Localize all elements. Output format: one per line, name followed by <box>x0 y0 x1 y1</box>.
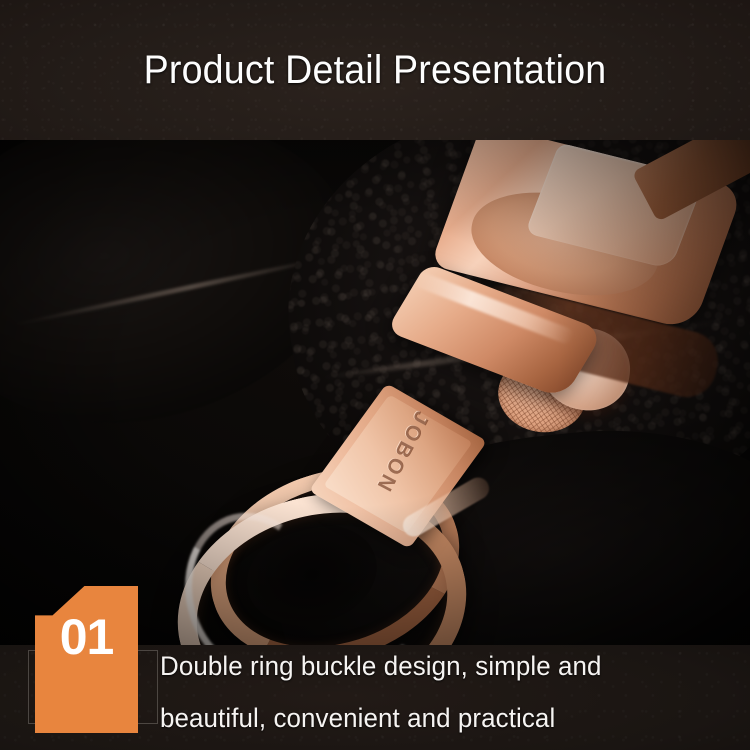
caption-text: Double ring buckle design, simple and be… <box>160 640 698 744</box>
caption-line-2: beautiful, convenient and practical <box>160 692 698 744</box>
product-detail-page: Product Detail Presentation <box>0 0 750 750</box>
caption-line-1: Double ring buckle design, simple and <box>160 640 698 692</box>
keychain-assembly: JOBON <box>0 140 750 645</box>
step-badge-number: 01 <box>35 586 138 733</box>
product-photo: JOBON <box>0 140 750 645</box>
page-title: Product Detail Presentation <box>23 0 728 140</box>
